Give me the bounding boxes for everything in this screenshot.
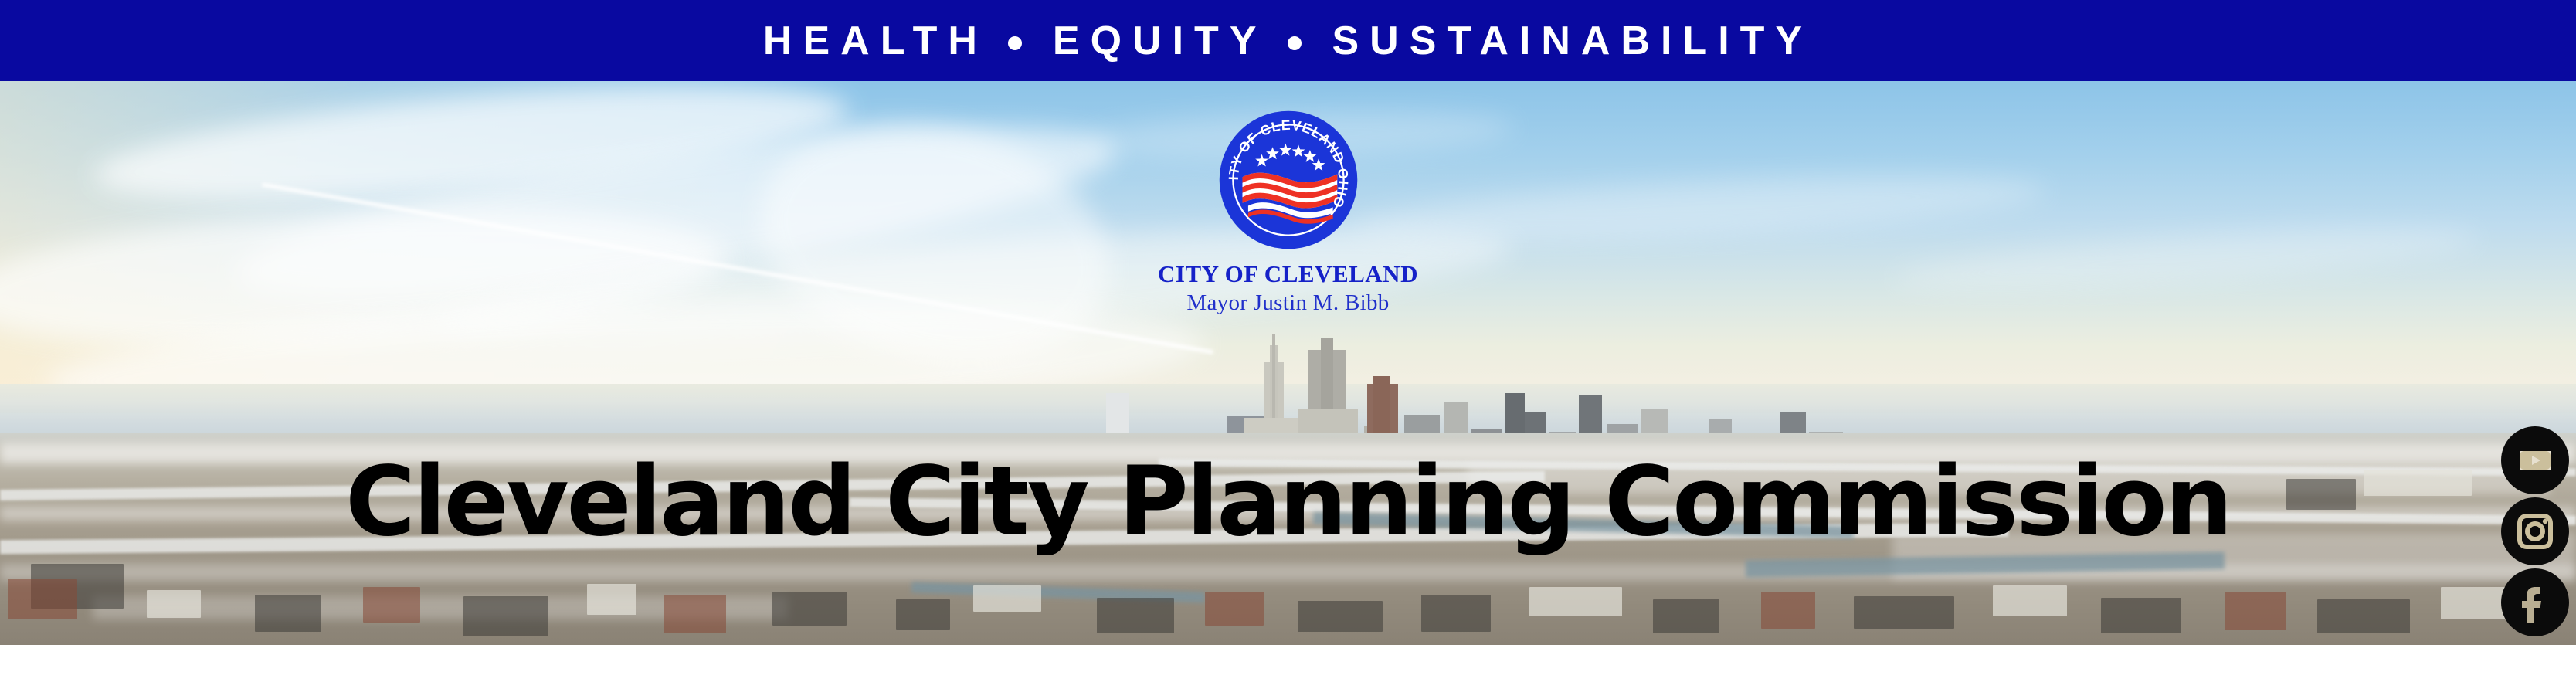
- instagram-icon: [2514, 511, 2556, 552]
- seal-caption: CITY OF CLEVELAND: [0, 262, 2576, 287]
- seal-subcaption: Mayor Justin M. Bibb: [0, 291, 2576, 314]
- bottom-white-strip: [0, 645, 2576, 682]
- social-link-youtube[interactable]: [2501, 426, 2569, 494]
- city-of-cleveland-seal-icon: CITY OF CLEVELAND OHIO: [1213, 108, 1364, 252]
- tagline-text: HEALTHEQUITYSUSTAINABILITY: [763, 21, 1813, 61]
- tagline-bullet-1: [1008, 36, 1022, 50]
- tagline-word-sustainability: SUSTAINABILITY: [1332, 19, 1814, 63]
- tagline-bullet-2: [1288, 36, 1302, 50]
- tagline-banner: HEALTHEQUITYSUSTAINABILITY: [0, 0, 2576, 81]
- page-title-text: Cleveland City Planning Commission: [345, 454, 2231, 550]
- page-title: Cleveland City Planning Commission: [0, 454, 2576, 550]
- seal-block: CITY OF CLEVELAND OHIO CITY OF CLEVELAND…: [0, 108, 2576, 314]
- hero-photo: CITY OF CLEVELAND OHIO CITY OF CLEVELAND…: [0, 81, 2576, 645]
- social-links-rail: [2499, 426, 2571, 636]
- youtube-icon: [2513, 439, 2557, 482]
- page-root: HEALTHEQUITYSUSTAINABILITY: [0, 0, 2576, 682]
- social-link-facebook[interactable]: [2501, 568, 2569, 636]
- social-link-instagram[interactable]: [2501, 497, 2569, 565]
- tagline-word-health: HEALTH: [763, 19, 988, 63]
- tagline-word-equity: EQUITY: [1053, 19, 1268, 63]
- facebook-icon: [2515, 582, 2555, 623]
